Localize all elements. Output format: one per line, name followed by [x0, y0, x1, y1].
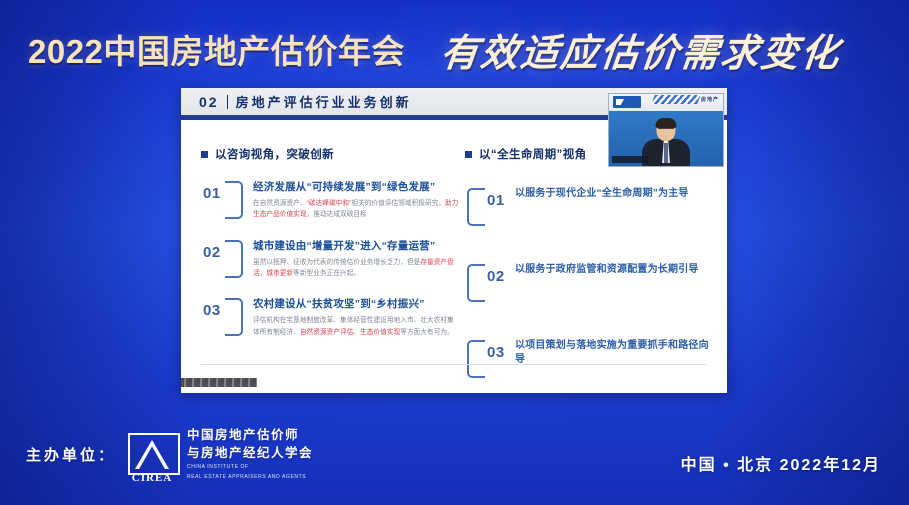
bullet-square-icon	[201, 151, 208, 158]
banner-streak-graphic	[651, 95, 701, 104]
speaker-glasses-icon	[658, 128, 674, 133]
host-organization-block: 主办单位： CIREA 中国房地产估价师 与房地产经纪人学会 CHINA INS…	[26, 426, 313, 483]
speaker-video-overlay[interactable]: 房地产	[608, 93, 724, 167]
item-description: 在自然资源资产、“碳达峰碳中和”相关的价值评估领域积极研究，助力生态产品价值实现…	[253, 198, 459, 220]
item-number: 01	[487, 192, 505, 209]
desc-part-b: 相关的价值评估领域积极研究，	[351, 200, 445, 207]
logo-acronym: CIREA	[128, 472, 176, 484]
item-number: 02	[203, 244, 221, 261]
desc-part-a: 虽然以抵押、征收为代表的传统估价业务增长乏力，但是	[253, 259, 420, 266]
org-name-en-line2: REAL ESTATE APPRAISERS AND AGENTS	[187, 474, 313, 482]
video-banner-strip: 房地产	[609, 94, 723, 111]
event-title: 2022中国房地产估价年会	[28, 25, 405, 73]
host-label: 主办单位：	[26, 444, 116, 465]
desc-part-a: 在自然资源资产、	[253, 200, 307, 207]
presentation-stage: 2022中国房地产估价年会 有效适应估价需求变化 02 房地产评估行业业务创新 …	[0, 0, 909, 505]
broadcaster-brand-label: 房地产	[701, 96, 719, 103]
event-location-date: 中国 • 北京 2022年12月	[681, 451, 881, 475]
speaker-hair	[656, 118, 677, 128]
item-text: 经济发展从“可持续发展”到“绿色发展” 在自然资源资产、“碳达峰碳中和”相关的价…	[253, 179, 459, 221]
bullet-square-icon	[465, 151, 472, 158]
slide-column-left: 以咨询视角，突破创新 01 经济发展从“可持续发展”到“绿色发展” 在自然资源资…	[201, 146, 459, 338]
item-bracket-icon: 02	[203, 238, 245, 276]
speaker-tie	[664, 143, 668, 163]
broadcaster-logo-icon	[613, 96, 641, 108]
item-number: 02	[487, 268, 505, 285]
org-name-line1: 中国房地产估价师	[187, 426, 313, 444]
item-number: 03	[487, 344, 505, 361]
list-item: 03 农村建设从“扶贫攻坚”到“乡村振兴” 评估机构在宅基地制度改革、集体经营性…	[203, 296, 459, 338]
item-title: 以服务于政府监管和资源配置为长期引导	[515, 263, 711, 277]
list-item: 01 经济发展从“可持续发展”到“绿色发展” 在自然资源资产、“碳达峰碳中和”相…	[203, 179, 459, 221]
item-bracket-icon: 01	[203, 179, 245, 217]
desc-part-b: 等方面大有可为。	[400, 329, 454, 336]
item-bracket-icon: 03	[465, 338, 507, 376]
desc-highlight-1: “碳达峰碳中和”	[307, 200, 352, 207]
slide-title-divider	[227, 95, 228, 109]
column-left-heading-text: 以咨询视角，突破创新	[215, 146, 334, 162]
column-right-heading-text: 以“全生命周期”视角	[479, 146, 587, 162]
column-left-heading: 以咨询视角，突破创新	[201, 146, 459, 162]
list-item: 02 以服务于政府监管和资源配置为长期引导	[465, 262, 711, 300]
org-name-en-line1: CHINA INSTITUTE OF	[187, 464, 313, 472]
item-bracket-icon: 03	[203, 296, 245, 334]
item-text: 农村建设从“扶贫攻坚”到“乡村振兴” 评估机构在宅基地制度改革、集体经营性建设用…	[253, 296, 459, 338]
slide-column-right: 以“全生命周期”视角 01 以服务于现代企业“全生命周期”为主导 02 以	[465, 146, 711, 376]
item-title: 以服务于现代企业“全生命周期”为主导	[515, 187, 711, 201]
desc-part-b: 等新型业务正在兴起。	[293, 270, 360, 277]
slide-section-number: 02	[199, 94, 219, 110]
video-frame	[609, 111, 723, 166]
item-text: 以服务于政府监管和资源配置为长期引导	[515, 262, 711, 277]
item-bracket-icon: 01	[465, 186, 507, 224]
desc-part-c: ，推动达成双碳目标	[307, 211, 367, 218]
item-title: 经济发展从“可持续发展”到“绿色发展”	[253, 180, 459, 194]
item-description: 虽然以抵押、征收为代表的传统估价业务增长乏力，但是存量资产盘活、城市更新等新型业…	[253, 257, 459, 279]
cirea-logo-mark-icon: CIREA	[128, 433, 178, 483]
slide-watermark-stamp	[181, 378, 257, 387]
item-title: 城市建设由“增量开发”进入“存量运营”	[253, 239, 459, 253]
event-header: 2022中国房地产估价年会 有效适应估价需求变化	[0, 18, 909, 80]
item-bracket-icon: 02	[465, 262, 507, 300]
list-item: 01 以服务于现代企业“全生命周期”为主导	[465, 186, 711, 224]
item-title: 农村建设从“扶贫攻坚”到“乡村振兴”	[253, 297, 459, 311]
speaker-name-tag	[612, 156, 648, 163]
cirea-logo: CIREA 中国房地产估价师 与房地产经纪人学会 CHINA INSTITUTE…	[128, 426, 313, 483]
event-theme-title: 有效适应估价需求变化	[438, 22, 844, 77]
slide-footer-divider	[201, 364, 707, 365]
item-text: 以项目策划与落地实施为重要抓手和路径向导	[515, 338, 711, 366]
item-number: 01	[203, 185, 221, 202]
item-text: 城市建设由“增量开发”进入“存量运营” 虽然以抵押、征收为代表的传统估价业务增长…	[253, 238, 459, 280]
list-item: 02 城市建设由“增量开发”进入“存量运营” 虽然以抵押、征收为代表的传统估价业…	[203, 238, 459, 280]
organization-names: 中国房地产估价师 与房地产经纪人学会 CHINA INSTITUTE OF RE…	[187, 426, 313, 483]
item-number: 03	[203, 302, 221, 319]
item-description: 评估机构在宅基地制度改革、集体经营性建设用地入市、壮大农村集体所有制经济、自然资…	[253, 315, 459, 337]
item-title: 以项目策划与落地实施为重要抓手和路径向导	[515, 339, 711, 366]
desc-highlight-1: 自然资源资产评估、生态价值实现	[300, 329, 400, 336]
org-name-line2: 与房地产经纪人学会	[187, 444, 313, 462]
item-text: 以服务于现代企业“全生命周期”为主导	[515, 186, 711, 201]
slide-section-title: 房地产评估行业业务创新	[236, 92, 412, 111]
list-item: 03 以项目策划与落地实施为重要抓手和路径向导	[465, 338, 711, 376]
